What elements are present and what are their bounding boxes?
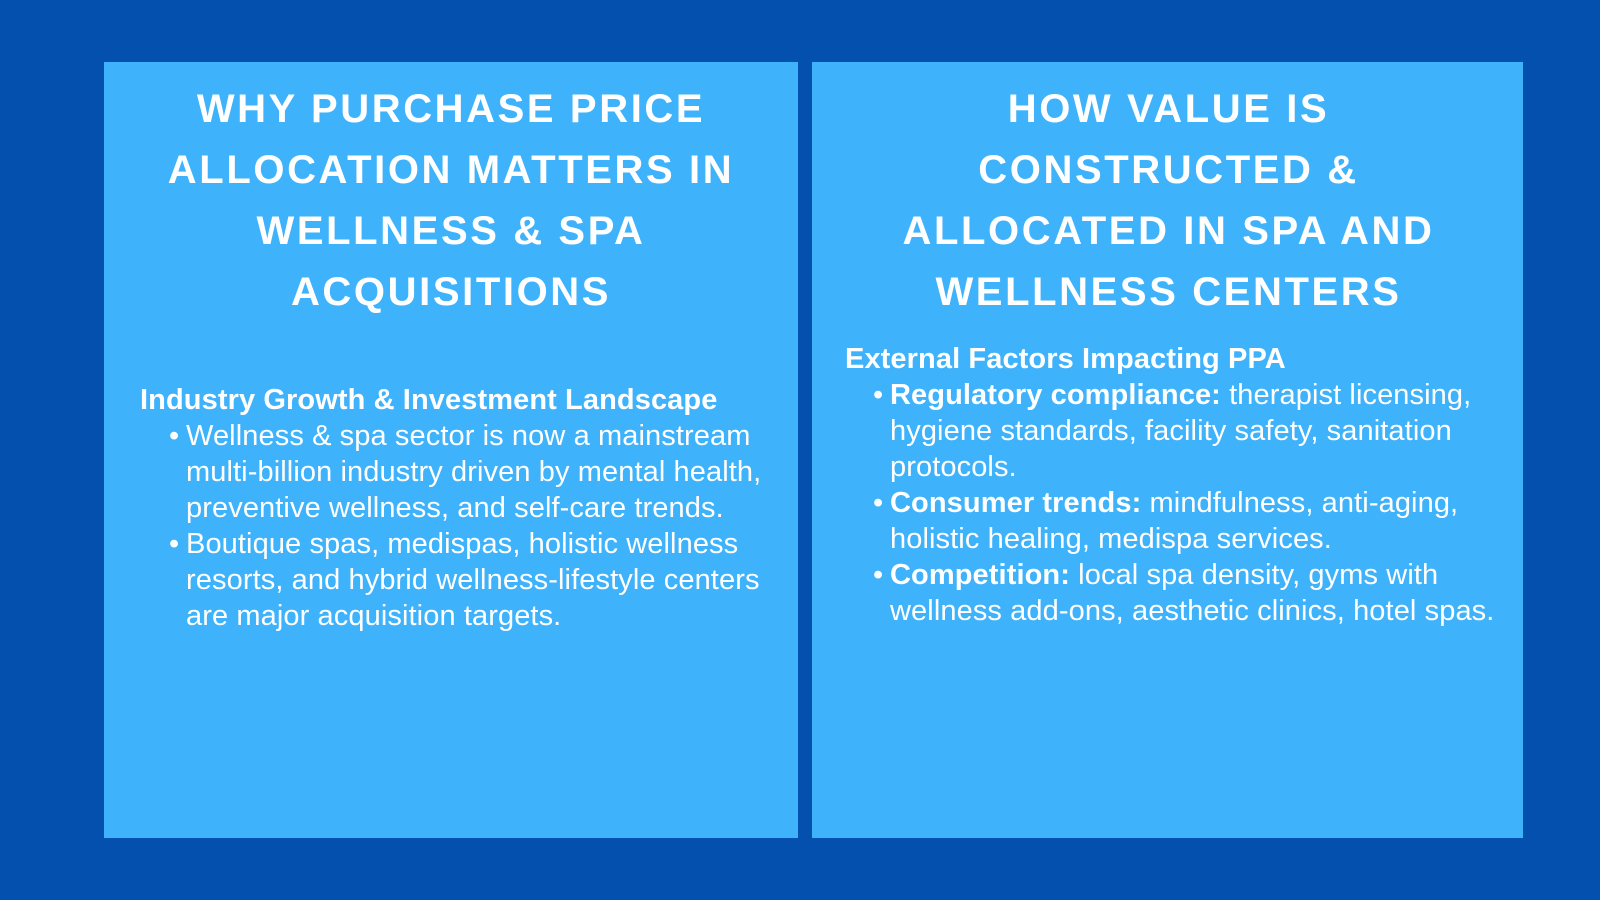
list-item: • Regulatory compliance: therapist licen… [845,377,1495,485]
panel-left-bullet-list: • Wellness & spa sector is now a mainstr… [140,418,766,634]
panel-why-ppa-matters: WHY PURCHASE PRICE ALLOCATION MATTERS IN… [104,62,798,838]
panel-right-title: HOW VALUE IS CONSTRUCTED & ALLOCATED IN … [842,62,1495,323]
list-item: • Boutique spas, medispas, holistic well… [140,526,766,634]
panel-left-title: WHY PURCHASE PRICE ALLOCATION MATTERS IN… [136,62,766,323]
panel-right-body: External Factors Impacting PPA • Regulat… [842,341,1495,629]
bullet-dot-icon: • [873,377,883,413]
panel-left-section-heading: Industry Growth & Investment Landscape [140,382,766,418]
list-item: • Competition: local spa density, gyms w… [845,557,1495,629]
slide-canvas: WHY PURCHASE PRICE ALLOCATION MATTERS IN… [0,0,1600,900]
list-item: • Wellness & spa sector is now a mainstr… [140,418,766,526]
panel-container: WHY PURCHASE PRICE ALLOCATION MATTERS IN… [0,0,1600,900]
list-item-lead-in: Competition: [890,559,1070,591]
bullet-dot-icon: • [169,526,179,562]
panel-right-section-heading: External Factors Impacting PPA [845,341,1495,377]
bullet-dot-icon: • [873,557,883,593]
list-item: • Consumer trends: mindfulness, anti-agi… [845,485,1495,557]
panel-how-value-constructed: HOW VALUE IS CONSTRUCTED & ALLOCATED IN … [812,62,1523,838]
list-item-text: Boutique spas, medispas, holistic wellne… [186,528,760,632]
bullet-dot-icon: • [169,418,179,454]
panel-left-body: Industry Growth & Investment Landscape •… [136,382,766,634]
bullet-dot-icon: • [873,485,883,521]
list-item-text: Wellness & spa sector is now a mainstrea… [186,420,761,524]
panel-right-bullet-list: • Regulatory compliance: therapist licen… [845,377,1495,629]
list-item-lead-in: Consumer trends: [890,487,1141,519]
list-item-lead-in: Regulatory compliance: [890,379,1221,411]
